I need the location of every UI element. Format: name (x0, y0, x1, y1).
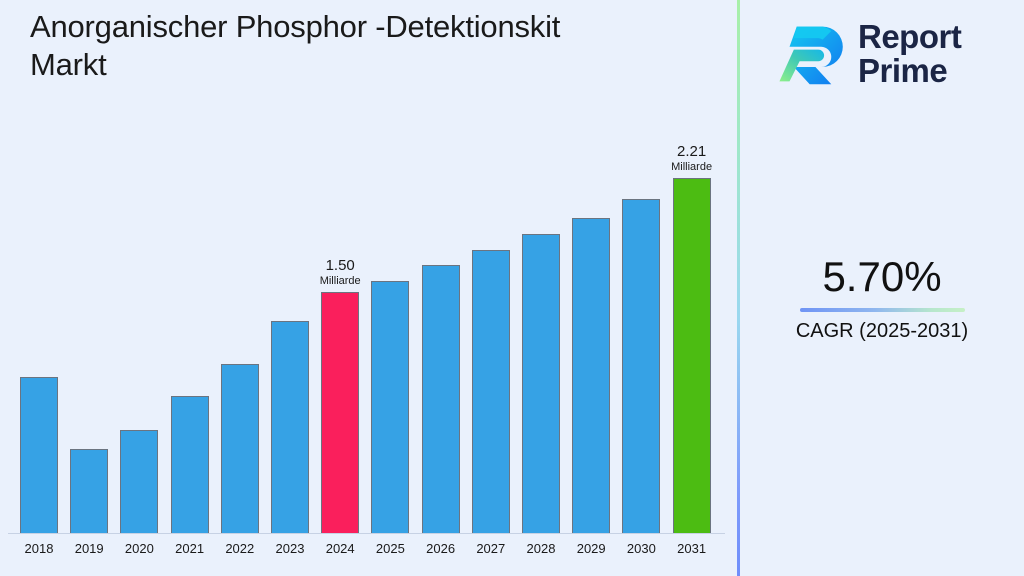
x-tick-label-2018: 2018 (20, 541, 58, 557)
bar-2028[interactable] (522, 234, 560, 533)
bar-group-2025 (371, 281, 409, 533)
bar-value-2024: 1.50 (320, 257, 361, 275)
bar-2027[interactable] (472, 250, 510, 533)
bar-2018[interactable] (20, 377, 58, 533)
x-tick-label-2026: 2026 (422, 541, 460, 557)
bar-group-2028 (522, 234, 560, 533)
bar-2029[interactable] (572, 218, 610, 533)
bar-2020[interactable] (120, 430, 158, 533)
bar-unit-2024: Milliarde (320, 275, 361, 288)
x-tick-label-2028: 2028 (522, 541, 560, 557)
bar-group-2024: 1.50Milliarde (321, 292, 359, 533)
x-tick-label-2031: 2031 (673, 541, 711, 557)
bar-group-2023 (271, 321, 309, 533)
chart-panel: Anorganischer Phosphor -Detektionskit Ma… (0, 0, 737, 576)
brand-panel: Report Prime 5.70% CAGR (2025-2031) (740, 0, 1024, 576)
bar-group-2031: 2.21Milliarde (673, 178, 711, 533)
x-tick-label-2021: 2021 (171, 541, 209, 557)
bar-2023[interactable] (271, 321, 309, 533)
bar-2019[interactable] (70, 449, 108, 533)
x-tick-label-2029: 2029 (572, 541, 610, 557)
x-tick-label-2023: 2023 (271, 541, 309, 557)
cagr-divider-rule (800, 308, 965, 312)
bar-group-2029 (572, 218, 610, 533)
bar-group-2026 (422, 265, 460, 533)
brand-name-line-1: Report (858, 20, 961, 54)
cagr-caption: CAGR (2025-2031) (752, 318, 1012, 344)
bar-group-2022 (221, 364, 259, 533)
x-tick-label-2020: 2020 (120, 541, 158, 557)
bar-chart-plot: 2018201920202021202220231.50Milliarde202… (0, 0, 737, 576)
x-tick-label-2030: 2030 (622, 541, 660, 557)
bar-2022[interactable] (221, 364, 259, 533)
bar-group-2020 (120, 430, 158, 533)
x-axis-line (8, 533, 725, 534)
bar-group-2027 (472, 250, 510, 533)
brand-name: Report Prime (858, 20, 961, 88)
bar-2024[interactable] (321, 292, 359, 533)
report-prime-logo-icon (778, 18, 850, 90)
bar-group-2019 (70, 449, 108, 533)
bar-value-label-2031: 2.21Milliarde (671, 143, 712, 174)
x-tick-label-2024: 2024 (321, 541, 359, 557)
bar-group-2018 (20, 377, 58, 533)
bar-value-label-2024: 1.50Milliarde (320, 257, 361, 288)
x-tick-label-2025: 2025 (371, 541, 409, 557)
bar-2025[interactable] (371, 281, 409, 533)
brand-name-line-2: Prime (858, 54, 961, 88)
bar-2026[interactable] (422, 265, 460, 533)
bar-2021[interactable] (171, 396, 209, 533)
bar-group-2030 (622, 199, 660, 533)
cagr-block: 5.70% CAGR (2025-2031) (752, 252, 1012, 344)
x-tick-label-2022: 2022 (221, 541, 259, 557)
x-tick-label-2027: 2027 (472, 541, 510, 557)
bar-group-2021 (171, 396, 209, 533)
x-tick-label-2019: 2019 (70, 541, 108, 557)
bar-2031[interactable] (673, 178, 711, 533)
bar-value-2031: 2.21 (671, 143, 712, 161)
bar-unit-2031: Milliarde (671, 161, 712, 174)
report-prime-logo: Report Prime (778, 12, 1008, 96)
chart-page: Anorganischer Phosphor -Detektionskit Ma… (0, 0, 1024, 576)
cagr-value: 5.70% (752, 252, 1012, 302)
bar-2030[interactable] (622, 199, 660, 533)
